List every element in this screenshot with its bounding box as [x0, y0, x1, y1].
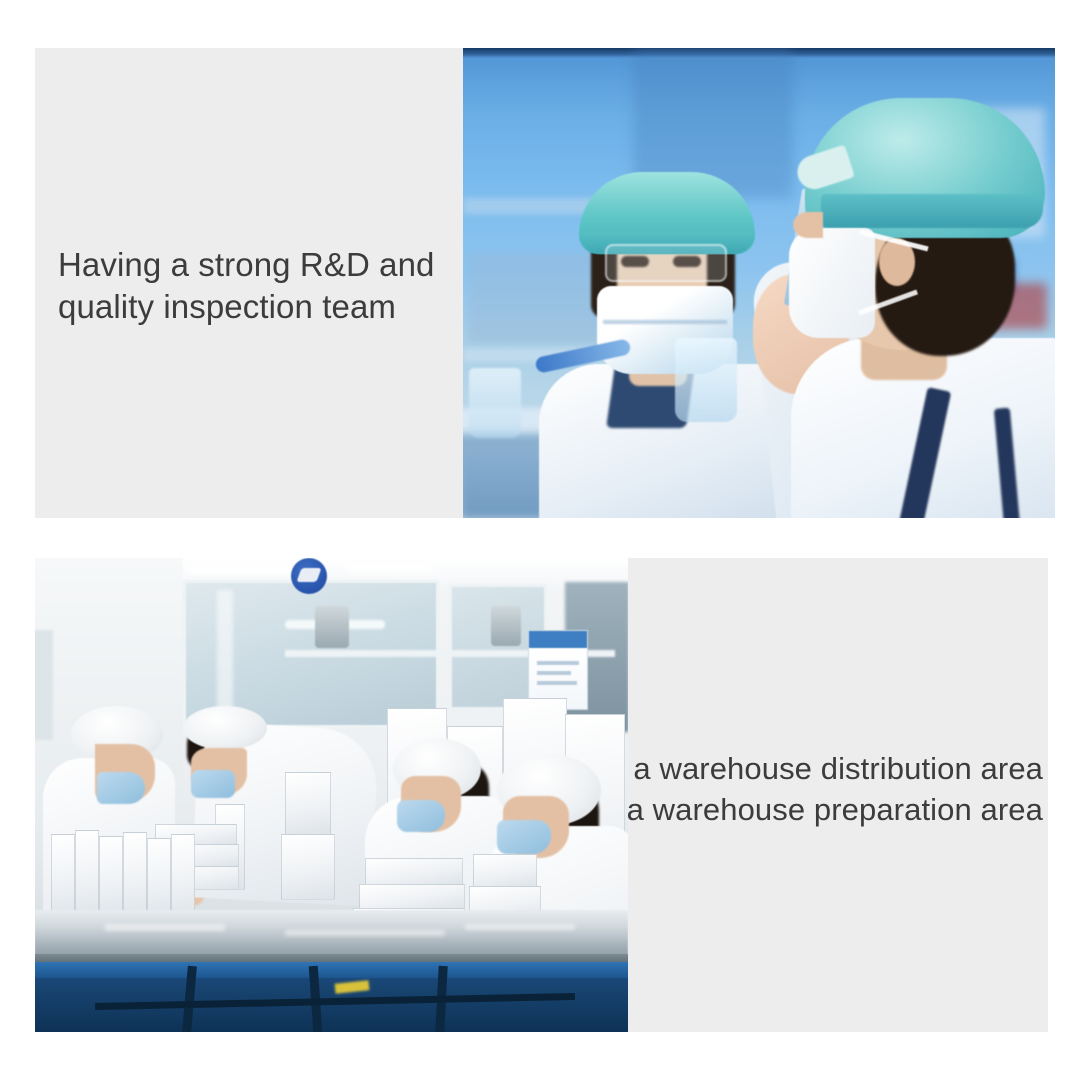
- top-section: Having a strong R&D and quality inspecti…: [35, 48, 1055, 518]
- page-root: Having a strong R&D and quality inspecti…: [0, 0, 1080, 1080]
- carton-box: [281, 834, 335, 900]
- carton-box: [359, 884, 465, 910]
- table-reflection: [105, 924, 225, 931]
- lab-worker-profile-mask: [789, 228, 875, 338]
- lab-beaker: [675, 338, 737, 422]
- top-caption-text: Having a strong R&D and quality inspecti…: [58, 244, 458, 327]
- warehouse-canister-left: [315, 606, 349, 648]
- carton-bottle: [99, 836, 123, 920]
- warehouse-worker-mask: [191, 770, 235, 798]
- carton-bottle: [75, 830, 99, 920]
- table-reflection: [285, 930, 445, 936]
- warehouse-wall-panel: [35, 630, 53, 740]
- bottom-caption-panel: a warehouse distribution area a warehous…: [628, 558, 1048, 1032]
- warehouse-round-sign-icon: [291, 558, 327, 594]
- warehouse-table-rail: [35, 962, 628, 978]
- warehouse-ceiling-light: [185, 566, 305, 574]
- warehouse-ceiling-light-secondary: [345, 564, 435, 571]
- lab-beaker-small: [469, 368, 521, 438]
- table-reflection: [465, 924, 575, 930]
- carton-bottle: [147, 838, 171, 920]
- carton-bottle: [123, 832, 147, 920]
- top-caption-panel: Having a strong R&D and quality inspecti…: [35, 48, 463, 518]
- carton-box: [365, 858, 463, 886]
- lab-worker-front-goggles: [605, 244, 727, 282]
- carton-box: [473, 854, 537, 888]
- bottom-caption-text: a warehouse distribution area a warehous…: [623, 748, 1043, 830]
- warehouse-photo: [35, 558, 628, 1032]
- lab-photo: [463, 48, 1055, 518]
- warehouse-window-reflection: [217, 590, 233, 712]
- warehouse-canister-right: [491, 606, 521, 646]
- lab-worker-front-mask-fold: [603, 320, 727, 324]
- carton-bottle: [51, 834, 75, 920]
- warehouse-worker-mask: [497, 820, 551, 854]
- bottom-section: a warehouse distribution area a warehous…: [35, 558, 1048, 1032]
- lab-worker-profile-nose: [793, 212, 823, 238]
- lab-worker-profile-cap-edge: [821, 194, 1043, 228]
- warehouse-worker-mask: [397, 800, 445, 832]
- warehouse-worker-hairnet: [183, 706, 267, 750]
- carton-box: [285, 772, 331, 836]
- carton-bottle: [171, 834, 195, 920]
- warehouse-worker-mask: [97, 772, 145, 804]
- lab-worker-profile: [763, 88, 1055, 518]
